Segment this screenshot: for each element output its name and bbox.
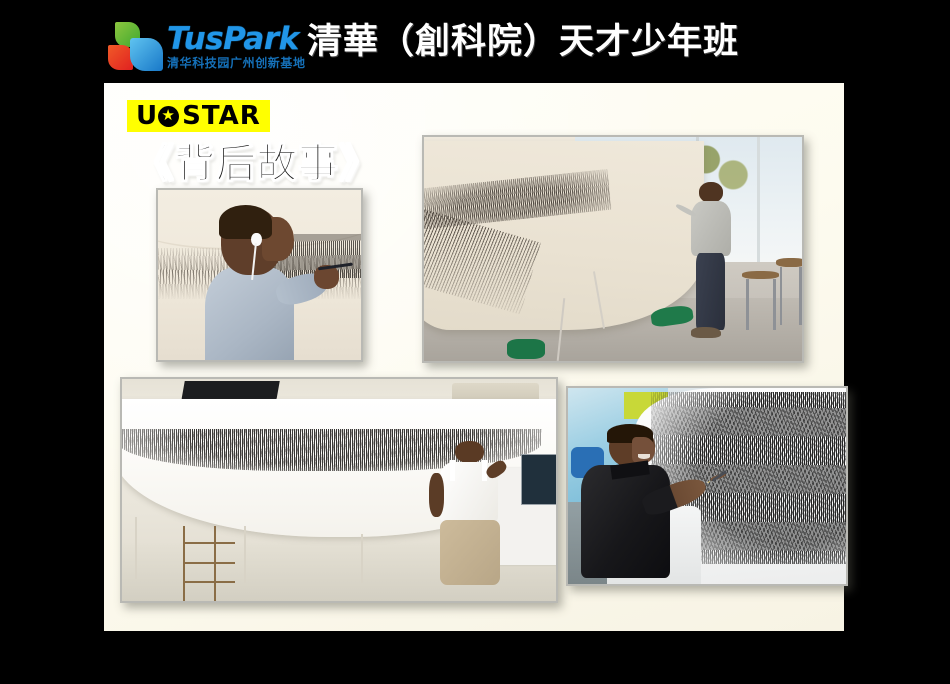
studio-stool xyxy=(776,258,802,325)
photo-curved-mural-content xyxy=(122,379,556,601)
photo-artist-sweater-content xyxy=(158,190,361,360)
artist-shoe xyxy=(691,327,721,338)
logo-subtitle: 清华科技园广州创新基地 xyxy=(167,54,306,71)
content-panel: U STAR 《背后故事》 xyxy=(104,83,844,631)
photo-closeup-drawing xyxy=(566,386,848,586)
stool-leg xyxy=(780,267,782,325)
photo-artist-sweater xyxy=(156,188,363,362)
page-title: 清華（創科院）天才少年班 xyxy=(307,20,739,64)
stool-leg xyxy=(799,267,801,325)
artist-head xyxy=(699,182,723,203)
paper-support xyxy=(244,526,246,584)
monitor-screen xyxy=(521,454,556,505)
window-mullion xyxy=(757,137,760,262)
ustar-badge: U STAR xyxy=(127,100,270,132)
artist-trousers xyxy=(440,520,500,584)
star-in-circle-icon xyxy=(158,106,179,127)
ladder-rung xyxy=(183,542,235,544)
stool-leg xyxy=(746,279,749,330)
logo-leaf-blue-icon xyxy=(130,38,163,71)
story-title: 《背后故事》 xyxy=(134,131,380,189)
ladder-rung xyxy=(183,581,235,583)
tuspark-leaf-logo-icon xyxy=(101,21,163,71)
artist-black-shirt xyxy=(581,465,670,578)
artist-figure xyxy=(579,427,685,584)
photo-closeup-drawing-content xyxy=(568,388,846,584)
tank-strap xyxy=(450,460,456,481)
artist-torso xyxy=(205,267,294,361)
step-ladder xyxy=(183,526,235,601)
artist-head xyxy=(455,441,484,463)
artist-torso xyxy=(691,201,731,256)
stool-seat xyxy=(742,271,780,279)
paper-support xyxy=(361,534,363,583)
ustar-prefix: U xyxy=(136,100,158,132)
tuspark-logo: TusPark 清华科技园广州创新基地 xyxy=(101,21,301,71)
photo-studio-panorama xyxy=(422,135,804,363)
studio-stool xyxy=(742,271,780,329)
artist-figure xyxy=(689,182,734,343)
cityscape-drawing-lower xyxy=(424,209,541,315)
ladder-rung xyxy=(183,562,235,564)
artist-face xyxy=(632,437,655,464)
artist-smile xyxy=(638,454,650,459)
ustar-badge-text: U STAR xyxy=(136,100,261,132)
green-bag xyxy=(507,339,545,359)
logo-wordmark: TusPark xyxy=(167,21,299,57)
paper-support xyxy=(135,517,137,579)
artist-legs xyxy=(696,253,725,330)
artist-figure xyxy=(434,441,503,588)
artist-arm xyxy=(429,473,444,517)
ustar-suffix: STAR xyxy=(182,100,261,132)
photo-curved-mural xyxy=(120,377,558,603)
artist-hair xyxy=(219,205,272,239)
photo-studio-panorama-content xyxy=(424,137,802,361)
stool-seat xyxy=(776,258,802,267)
presentation-slide: TusPark 清华科技园广州创新基地 清華（創科院）天才少年班 U STAR … xyxy=(0,0,950,684)
slide-header: TusPark 清华科技园广州创新基地 清華（創科院）天才少年班 xyxy=(0,0,950,83)
